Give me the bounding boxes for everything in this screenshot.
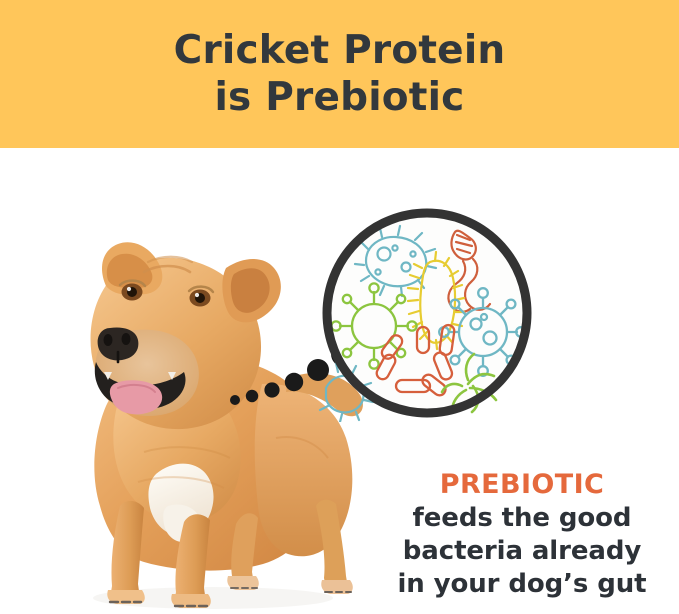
magnifier-bubble bbox=[318, 204, 536, 422]
page-title-line-2: is Prebiotic bbox=[214, 74, 464, 121]
content-area: PREBIOTIC feeds the good bacteria alread… bbox=[0, 148, 679, 614]
caption-line-2: bacteria already bbox=[372, 535, 672, 568]
caption-block: PREBIOTIC feeds the good bacteria alread… bbox=[372, 468, 672, 601]
infographic-root: Cricket Protein is Prebiotic bbox=[0, 0, 679, 614]
caption-line-1: feeds the good bbox=[372, 502, 672, 535]
caption-title: PREBIOTIC bbox=[372, 468, 672, 502]
header-band: Cricket Protein is Prebiotic bbox=[0, 0, 679, 148]
caption-line-3: in your dog’s gut bbox=[372, 568, 672, 601]
page-title-line-1: Cricket Protein bbox=[174, 27, 506, 74]
